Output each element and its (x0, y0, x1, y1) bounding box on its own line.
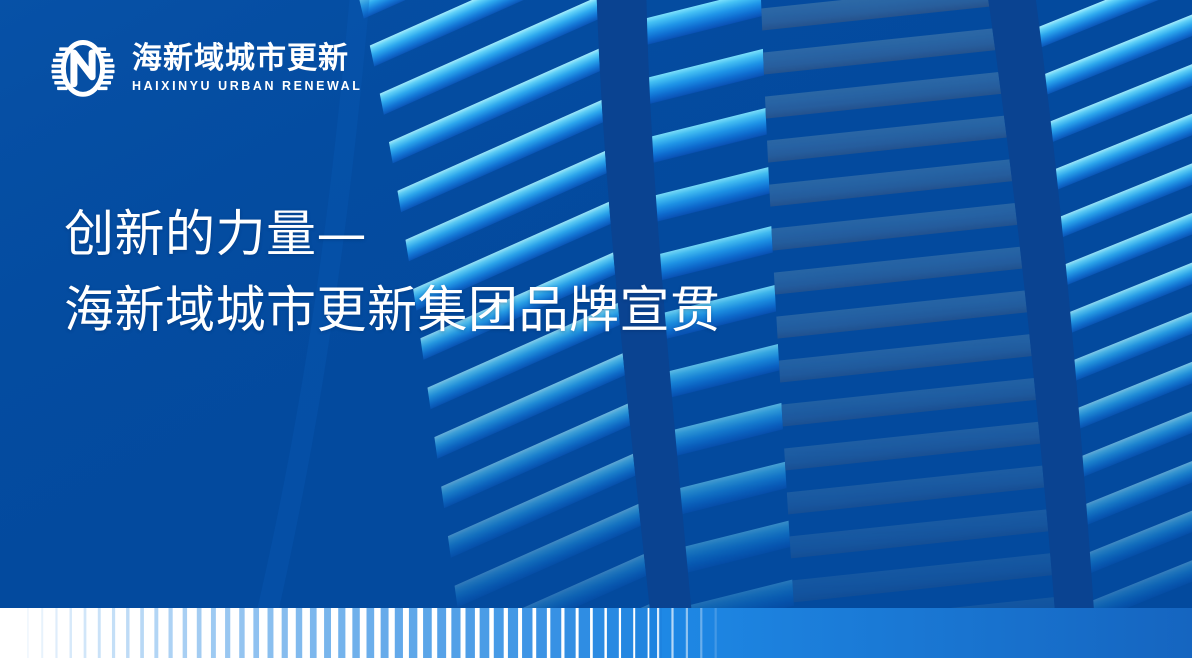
brand-logo-lockup: 海新域城市更新 HAIXINYU URBAN RENEWAL (48, 32, 362, 102)
logo-english-name: HAIXINYU URBAN RENEWAL (132, 79, 362, 93)
logo-wordmark: 海新域城市更新 HAIXINYU URBAN RENEWAL (132, 41, 362, 94)
logo-chinese-name: 海新域城市更新 (132, 43, 362, 75)
bottom-stripe-band (0, 608, 1192, 658)
page-title: 创新的力量— 海新域城市更新集团品牌宣贯 (64, 196, 721, 348)
title-line-2: 海新域城市更新集团品牌宣贯 (64, 272, 721, 348)
slide-canvas: 海新域城市更新 HAIXINYU URBAN RENEWAL 创新的力量— 海新… (0, 0, 1192, 658)
title-line-1: 创新的力量— (64, 196, 721, 272)
haixinyu-n-monogram-icon (48, 32, 118, 102)
